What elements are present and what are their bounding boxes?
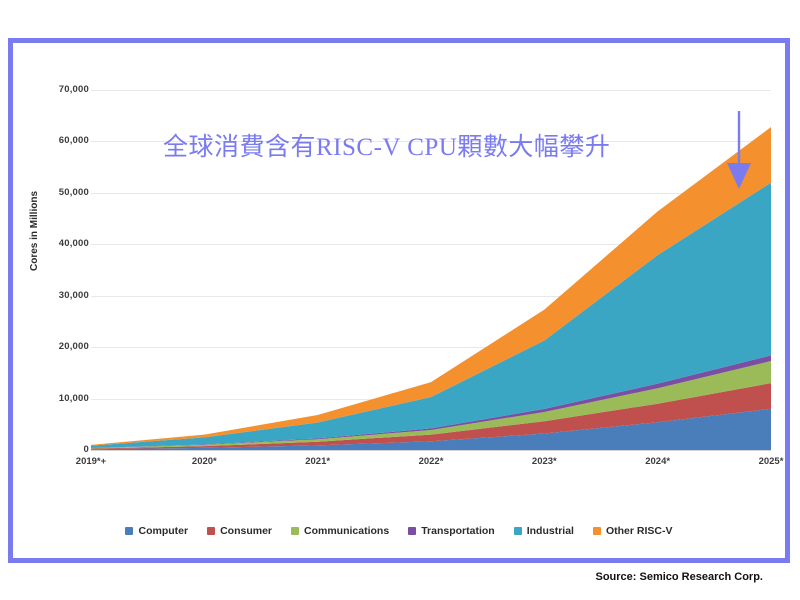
legend-item-label: Computer bbox=[138, 525, 188, 537]
chart-title-annotation: 全球消費含有RISC-V CPU顆數大幅攀升 bbox=[163, 127, 723, 163]
legend-swatch-icon bbox=[207, 527, 215, 535]
legend-swatch-icon bbox=[291, 527, 299, 535]
y-axis-label: Cores in Millions bbox=[29, 191, 40, 271]
legend-item[interactable]: Industrial bbox=[514, 525, 574, 537]
legend-item[interactable]: Other RISC-V bbox=[593, 525, 673, 537]
x-axis-tick-label: 2020* bbox=[159, 456, 249, 467]
down-arrow-icon bbox=[721, 109, 757, 191]
y-axis-tick-label: 50,000 bbox=[19, 187, 89, 198]
x-axis-tick-label: 2022* bbox=[386, 456, 476, 467]
slide-frame-border: Cores in Millions 010,00020,00030,00040,… bbox=[8, 38, 790, 563]
legend-item-label: Communications bbox=[304, 525, 389, 537]
y-axis-tick-label: 30,000 bbox=[19, 290, 89, 301]
legend-item-label: Consumer bbox=[220, 525, 272, 537]
legend-item-label: Transportation bbox=[421, 525, 495, 537]
legend-swatch-icon bbox=[593, 527, 601, 535]
y-axis-tick-label: 20,000 bbox=[19, 341, 89, 352]
x-axis-tick-label: 2023* bbox=[499, 456, 589, 467]
legend-item[interactable]: Computer bbox=[125, 525, 188, 537]
x-axis-tick-label: 2025* bbox=[726, 456, 800, 467]
y-axis-tick-label: 0 bbox=[19, 444, 89, 455]
source-credit: Source: Semico Research Corp. bbox=[595, 571, 763, 583]
slide-canvas: Cores in Millions 010,00020,00030,00040,… bbox=[0, 0, 800, 600]
legend-item-label: Industrial bbox=[527, 525, 574, 537]
x-axis-tick-label: 2019*+ bbox=[46, 456, 136, 467]
y-axis-tick-label: 40,000 bbox=[19, 238, 89, 249]
x-axis-tick-label: 2021* bbox=[273, 456, 363, 467]
y-axis-tick-label: 10,000 bbox=[19, 393, 89, 404]
y-axis-tick-label: 70,000 bbox=[19, 84, 89, 95]
x-axis-tick-label: 2024* bbox=[613, 456, 703, 467]
legend-swatch-icon bbox=[408, 527, 416, 535]
legend-swatch-icon bbox=[514, 527, 522, 535]
y-axis-tick-label: 60,000 bbox=[19, 135, 89, 146]
legend-item[interactable]: Transportation bbox=[408, 525, 495, 537]
legend-item-label: Other RISC-V bbox=[606, 525, 673, 537]
chart-container: Cores in Millions 010,00020,00030,00040,… bbox=[13, 43, 785, 558]
legend-swatch-icon bbox=[125, 527, 133, 535]
legend-item[interactable]: Consumer bbox=[207, 525, 272, 537]
x-axis-line bbox=[91, 450, 771, 451]
chart-legend: ComputerConsumerCommunicationsTransporta… bbox=[13, 525, 785, 537]
legend-item[interactable]: Communications bbox=[291, 525, 389, 537]
